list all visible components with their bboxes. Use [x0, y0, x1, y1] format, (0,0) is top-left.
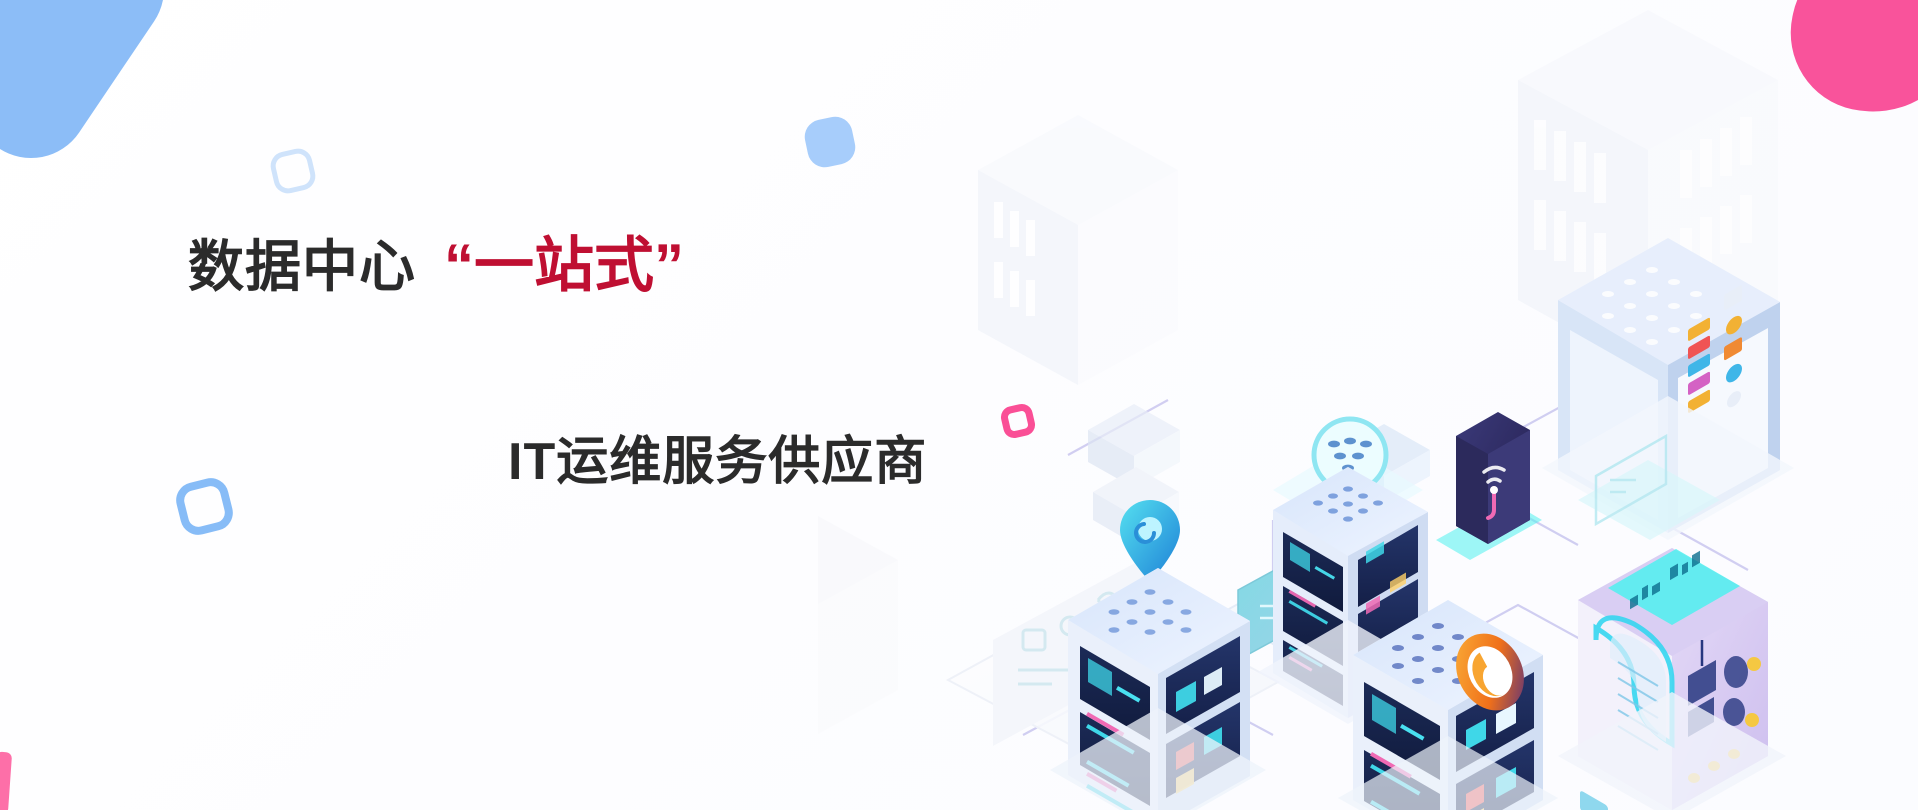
headline-primary-text: 数据中心	[188, 235, 416, 298]
server-rack-front-left	[1050, 470, 1266, 810]
hero-banner: 数据中心“一站式” IT运维服务供应商	[0, 0, 1918, 810]
purple-cabinet	[1558, 548, 1786, 810]
isometric-illustration	[818, 0, 1918, 810]
background-building-near	[978, 115, 1178, 385]
tablet-wifi-icon	[1436, 412, 1542, 560]
square-outline-upper-left	[268, 146, 318, 196]
blob-top-left	[0, 0, 187, 181]
headline-highlight-text: “一站式”	[444, 232, 684, 299]
watermark-cube	[818, 505, 898, 745]
blob-bottom-left	[0, 752, 12, 810]
